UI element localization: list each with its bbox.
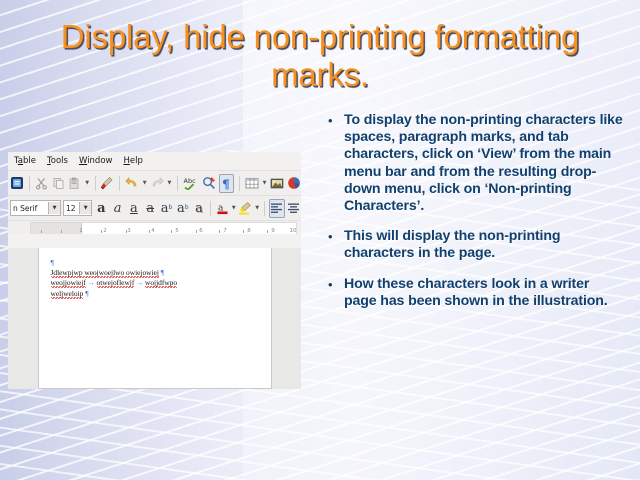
superscript-button[interactable]: ab [159, 200, 173, 217]
highlight-dropdown-caret[interactable]: ▼ [255, 205, 260, 211]
ruler-number: 2 [103, 228, 107, 234]
toolbar-separator [95, 176, 96, 191]
list-item: • How these characters look in a writer … [325, 276, 625, 310]
toolbar-separator [29, 176, 30, 191]
ruler-number: 10 [290, 228, 297, 234]
find-replace-icon[interactable] [202, 175, 216, 192]
document-line-2-word-1: weojjowiejf [51, 278, 86, 288]
menu-item-help[interactable]: Help [123, 156, 142, 166]
toolbar-separator [239, 176, 240, 191]
ruler-number: 6 [199, 228, 203, 234]
standard-toolbar: ▼ ▼ ▼ Abc ¶ ▼ [8, 170, 301, 195]
paste-icon[interactable] [68, 175, 82, 192]
copy-icon[interactable] [51, 175, 65, 192]
bullet-marker: • [325, 276, 344, 293]
formatting-toolbar: n Serif ▼ 12 ▼ a a a a ab ab a a ▼ ▼ [8, 195, 301, 220]
ruler-number: 5 [175, 228, 179, 234]
insert-image-icon[interactable] [270, 175, 284, 192]
document-line-3-text: weljweloip [51, 289, 84, 299]
ruler-number: 7 [223, 228, 227, 234]
toolbar-separator [264, 201, 265, 216]
undo-dropdown-caret[interactable]: ▼ [142, 180, 147, 186]
highlight-color-button[interactable] [238, 200, 252, 217]
subscript-glyph: a [177, 202, 185, 215]
bullet-list: • To display the non-printing characters… [325, 112, 625, 323]
menu-item-tools[interactable]: Tools [47, 156, 68, 166]
superscript-glyph: a [161, 202, 169, 215]
italic-button[interactable]: a [111, 200, 125, 217]
document-page[interactable]: ¶ Jdlewpjwp weojwoejlwo owiejowiej ¶ weo… [38, 248, 272, 389]
cut-icon[interactable] [35, 175, 49, 192]
tab-mark: → [88, 279, 95, 287]
redo-icon[interactable] [150, 175, 164, 192]
ruler-indent-region [31, 223, 82, 234]
font-size-value: 12 [66, 204, 76, 213]
align-left-button[interactable] [269, 199, 285, 218]
underline-button[interactable]: a [127, 200, 141, 217]
document-line-3: weljweloip ¶ [51, 289, 263, 299]
pilcrow-mark: ¶ [161, 268, 164, 277]
paste-dropdown-caret[interactable]: ▼ [85, 180, 90, 186]
pilcrow-mark: ¶ [51, 258, 54, 267]
bullet-text: This will display the non-printing chara… [344, 228, 625, 262]
writer-screenshot-illustration: Table Tools Window Help ▼ ▼ ▼ [8, 152, 301, 389]
strikethrough-glyph: a [146, 202, 154, 215]
undo-icon[interactable] [125, 175, 139, 192]
document-line-2: weojjowiejf → otwejoflewjf → wojjdfwpo [51, 278, 263, 288]
menu-item-window[interactable]: Window [79, 156, 113, 166]
italic-glyph: a [114, 202, 122, 215]
insert-chart-icon[interactable] [287, 175, 301, 192]
font-color-dropdown-caret[interactable]: ▼ [231, 205, 236, 211]
list-item: • To display the non-printing characters… [325, 112, 625, 215]
table-dropdown-caret[interactable]: ▼ [262, 180, 267, 186]
shadow-button[interactable]: a [192, 200, 206, 217]
bold-glyph: a [97, 202, 105, 215]
page-title: Display, hide non-printing formatting ma… [30, 18, 610, 93]
font-size-combo[interactable]: 12 ▼ [63, 200, 92, 216]
chevron-down-icon[interactable]: ▼ [79, 202, 91, 214]
bullet-text: To display the non-printing characters l… [344, 112, 625, 215]
svg-text:¶: ¶ [222, 177, 230, 190]
bold-button[interactable]: a [94, 200, 108, 217]
ruler-number: 3 [127, 228, 131, 234]
align-center-button[interactable] [287, 200, 301, 217]
toolbar-separator [210, 201, 211, 216]
ruler-number: 8 [247, 228, 251, 234]
bullet-text: How these characters look in a writer pa… [344, 276, 625, 310]
shadow-glyph: a [195, 202, 203, 215]
chevron-down-icon[interactable]: ▼ [48, 202, 60, 214]
document-line-2-word-2: otwejoflewjf [97, 278, 135, 288]
insert-table-icon[interactable] [245, 175, 259, 192]
subscript-button[interactable]: ab [176, 200, 190, 217]
horizontal-ruler[interactable]: 1 2 3 4 5 6 7 8 9 10 [8, 220, 301, 234]
pilcrow-mark: ¶ [85, 289, 88, 298]
formatting-marks-icon[interactable]: ¶ [219, 174, 235, 193]
document-canvas: ¶ Jdlewpjwp weojwoejlwo owiejowiej ¶ weo… [8, 248, 301, 389]
export-pdf-icon[interactable] [10, 175, 24, 192]
font-name-combo[interactable]: n Serif ▼ [10, 200, 61, 216]
list-item: • This will display the non-printing cha… [325, 228, 625, 262]
spelling-icon[interactable]: Abc [183, 175, 199, 192]
toolbar-separator [119, 176, 120, 191]
font-color-button[interactable]: a [215, 200, 229, 217]
menu-bar: Table Tools Window Help [8, 152, 301, 170]
document-line-1-text: Jdlewpjwp weojwoejlwo owiejowiej [51, 268, 159, 278]
bullet-marker: • [325, 228, 344, 245]
document-text[interactable]: ¶ Jdlewpjwp weojwoejlwo owiejowiej ¶ weo… [51, 258, 263, 299]
font-name-value: n Serif [13, 204, 37, 213]
document-empty-line: ¶ [51, 258, 263, 268]
tab-mark: → [136, 279, 143, 287]
ruler-number: 4 [151, 228, 155, 234]
redo-dropdown-caret[interactable]: ▼ [167, 180, 172, 186]
ruler-number: 1 [79, 228, 83, 234]
document-line-1: Jdlewpjwp weojwoejlwo owiejowiej ¶ [51, 268, 263, 278]
ruler-number: 9 [271, 228, 275, 234]
menu-item-table[interactable]: Table [14, 156, 36, 166]
ruler-strip[interactable]: 1 2 3 4 5 6 7 8 9 10 [30, 222, 297, 234]
strikethrough-button[interactable]: a [143, 200, 157, 217]
clone-formatting-icon[interactable] [100, 175, 114, 192]
toolbar-separator [177, 176, 178, 191]
bullet-marker: • [325, 112, 344, 129]
document-line-2-word-3: wojjdfwpo [145, 278, 177, 288]
underline-glyph: a [130, 202, 138, 215]
svg-text:Abc: Abc [183, 177, 196, 185]
